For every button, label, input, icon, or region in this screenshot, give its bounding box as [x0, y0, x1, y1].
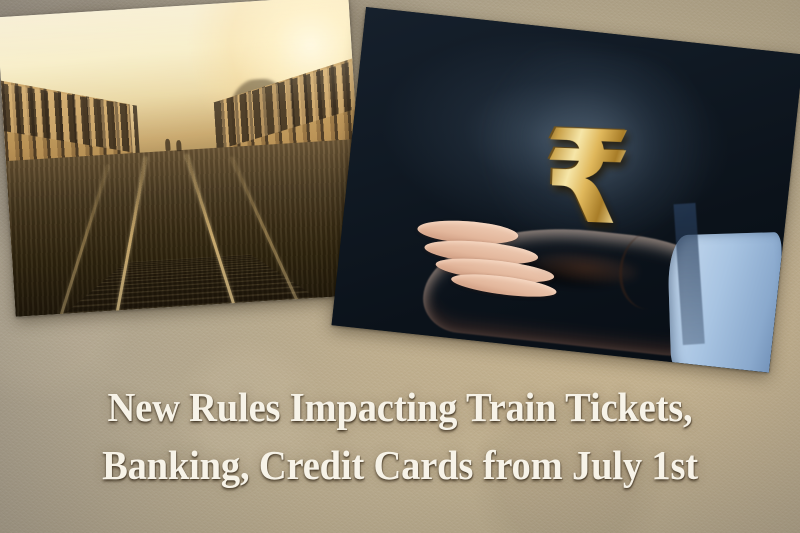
- news-banner-canvas: ₹ New Rules Impacting Train Tickets, Ban…: [0, 0, 800, 533]
- train-scene: [0, 0, 367, 317]
- sunrise-haze: [0, 0, 367, 317]
- rupee-currency-icon: ₹: [539, 113, 633, 244]
- rupee-scene: ₹: [332, 7, 800, 373]
- rupee-photo: ₹: [332, 7, 800, 373]
- train-photo: [0, 0, 367, 317]
